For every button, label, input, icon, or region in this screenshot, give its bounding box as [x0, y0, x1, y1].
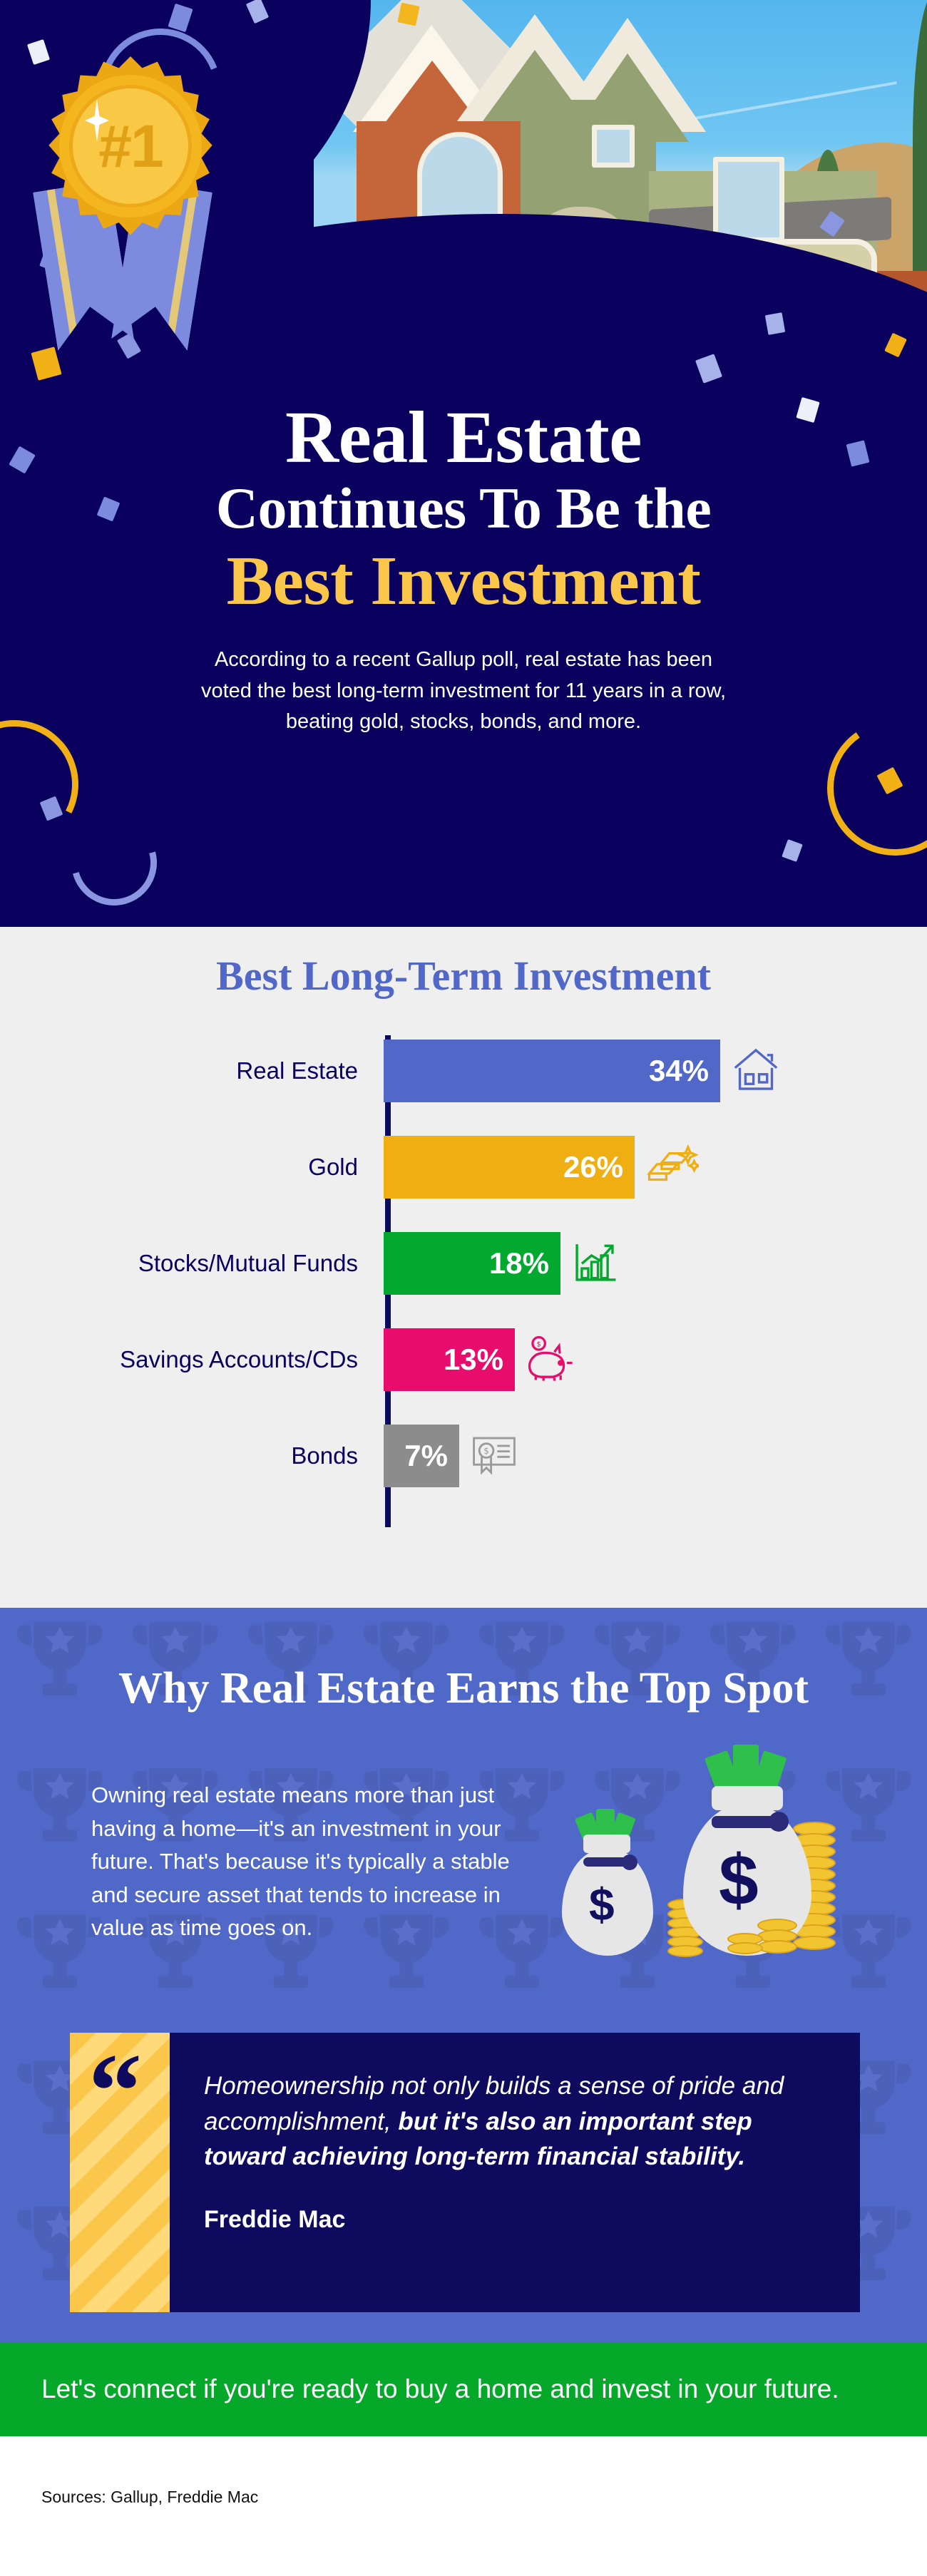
- quote-box: “ Homeownership not only builds a sense …: [70, 2033, 860, 2312]
- piggy-bank-icon: $: [525, 1335, 576, 1385]
- bond-certificate-icon: $: [469, 1432, 519, 1481]
- chart-row-real-estate: Real Estate 34%: [0, 1035, 927, 1107]
- chart-bar-bonds: 7%: [384, 1425, 459, 1487]
- svg-text:$: $: [537, 1340, 541, 1348]
- chart-bar-savings: 13%: [384, 1328, 515, 1391]
- quote-content: Homeownership not only builds a sense of…: [170, 2033, 860, 2312]
- headline-line-2: Continues To Be the: [0, 476, 927, 540]
- chart-value-gold: 26%: [563, 1150, 635, 1184]
- chart-section: Best Long-Term Investment Real Estate 34…: [0, 927, 927, 1608]
- chart-label-bonds: Bonds: [0, 1442, 378, 1469]
- chart-label-savings: Savings Accounts/CDs: [0, 1346, 378, 1373]
- hero-section: #1 Real Estate Continues To Be the Best …: [0, 0, 927, 927]
- chart-label-stocks: Stocks/Mutual Funds: [0, 1250, 378, 1277]
- chart-row-stocks: Stocks/Mutual Funds 18%: [0, 1228, 927, 1299]
- cta-text: Let's connect if you're ready to buy a h…: [0, 2374, 839, 2404]
- chart-row-savings: Savings Accounts/CDs 13% $: [0, 1324, 927, 1395]
- headline-line-1: Real Estate: [0, 399, 927, 476]
- why-section-body: Owning real estate means more than just …: [91, 1779, 519, 1945]
- quote-attribution: Freddie Mac: [204, 2206, 820, 2234]
- why-section-title: Why Real Estate Earns the Top Spot: [0, 1608, 927, 1714]
- sources-text: Sources: Gallup, Freddie Mac: [0, 2436, 927, 2507]
- award-medal-icon: #1: [25, 39, 239, 346]
- medal-rank-label: #1: [69, 85, 192, 207]
- hero-subtext: According to a recent Gallup poll, real …: [193, 645, 734, 738]
- chart-value-stocks: 18%: [489, 1246, 560, 1281]
- chart-value-bonds: 7%: [404, 1439, 459, 1473]
- chart-label-real-estate: Real Estate: [0, 1057, 378, 1084]
- chart-label-gold: Gold: [0, 1154, 378, 1181]
- chart-bar-real-estate: 34%: [384, 1040, 720, 1102]
- gold-bars-icon: [645, 1142, 699, 1193]
- chart-bar-stocks: 18%: [384, 1232, 560, 1295]
- footer: Sources: Gallup, Freddie Mac: [0, 2436, 927, 2576]
- house-icon: [730, 1044, 782, 1099]
- bar-chart: Real Estate 34% Gold 26%: [0, 1028, 927, 1570]
- quote-mark-icon: “: [88, 2058, 142, 2125]
- hero-headline-block: Real Estate Continues To Be the Best Inv…: [0, 399, 927, 738]
- svg-text:$: $: [483, 1445, 489, 1455]
- chart-row-bonds: Bonds 7% $: [0, 1420, 927, 1492]
- why-section: Why Real Estate Earns the Top Spot Ownin…: [0, 1608, 927, 2342]
- chart-row-gold: Gold 26%: [0, 1132, 927, 1203]
- quote-accent-bar: “: [70, 2033, 170, 2312]
- chart-value-real-estate: 34%: [649, 1054, 720, 1088]
- money-bags-illustration: $ $: [528, 1729, 856, 1986]
- cta-banner[interactable]: Let's connect if you're ready to buy a h…: [0, 2342, 927, 2436]
- chart-bar-gold: 26%: [384, 1136, 635, 1199]
- quote-text: Homeownership not only builds a sense of…: [204, 2068, 820, 2175]
- chart-value-savings: 13%: [444, 1343, 515, 1377]
- chart-title: Best Long-Term Investment: [0, 927, 927, 1000]
- headline-line-3: Best Investment: [0, 543, 927, 620]
- stock-growth-chart-icon: [570, 1238, 619, 1290]
